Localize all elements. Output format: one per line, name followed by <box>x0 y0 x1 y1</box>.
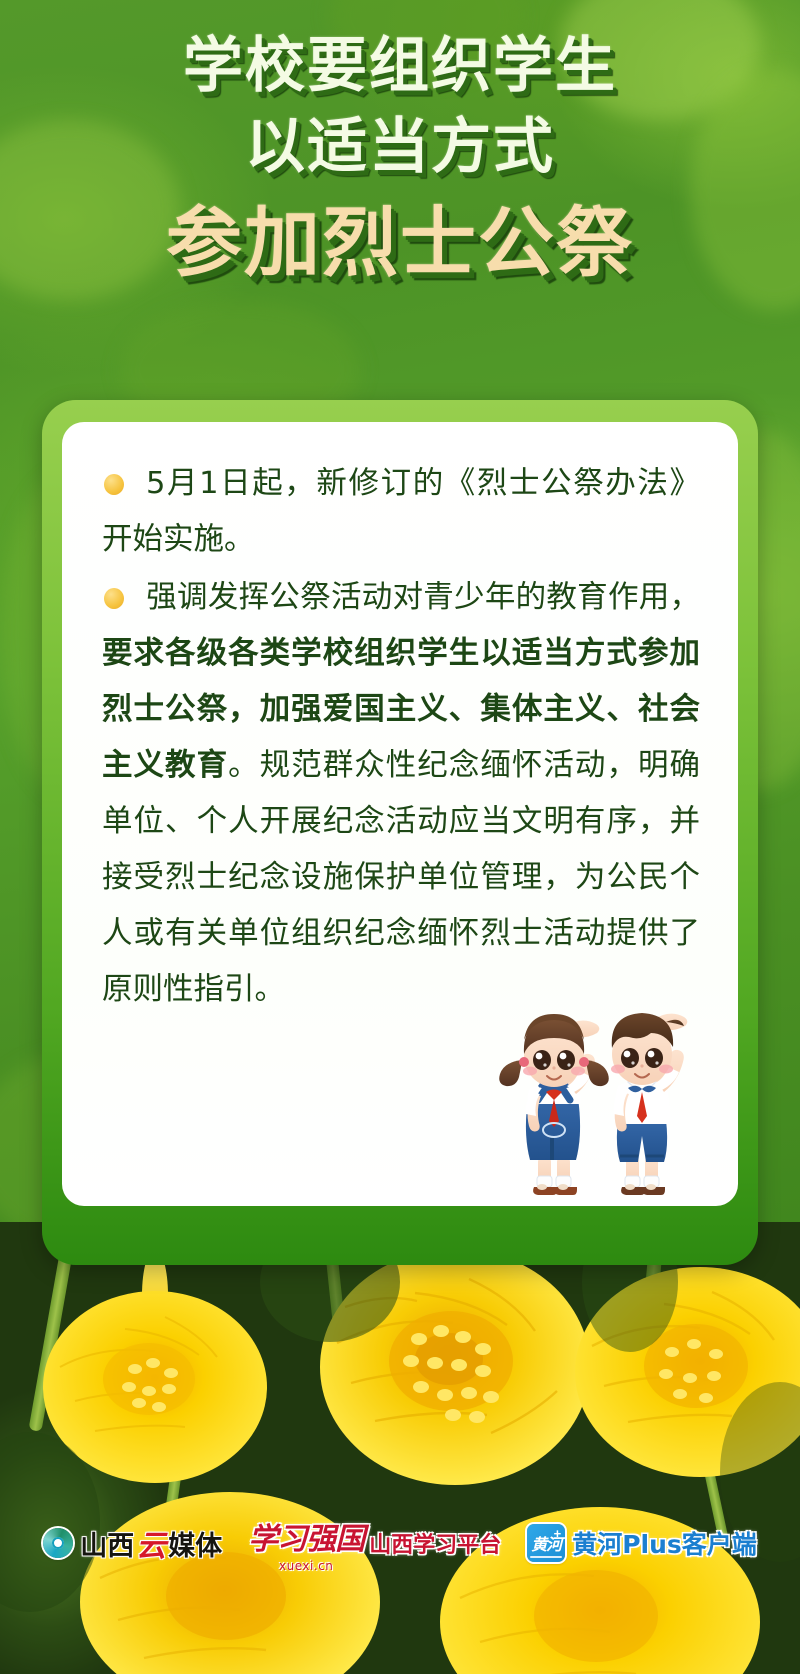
huanghe-app-icon: 黄河 + <box>527 1524 565 1562</box>
title-line-2: 以适当方式 <box>0 115 800 180</box>
paragraph-2-run-1: 强调发挥公祭活动对青少年的教育作用， <box>146 580 700 615</box>
logo-xuexi-qiangguo[interactable]: 学习强国 xuexi.cn 山西学习平台 <box>248 1514 501 1572</box>
footer-logo-bar: 山西 云 媒体 学习强国 xuexi.cn 山西学习平台 黄河 + 黄河Plus… <box>0 1508 800 1578</box>
poster-title-block: 学校要组织学生 以适当方式 参加烈士公祭 <box>0 34 800 284</box>
saluting-students-illustration <box>454 978 716 1206</box>
girl-student <box>499 1014 609 1195</box>
paragraph-2: 强调发挥公祭活动对青少年的教育作用，要求各级各类学校组织学生以适当方式参加烈士公… <box>102 570 700 1018</box>
logo-shanxi-part-1: 山西 <box>80 1524 134 1563</box>
logo-xuexi-domain: xuexi.cn <box>279 1560 333 1572</box>
flower-art <box>0 1222 800 1674</box>
logo-huanghe-plus[interactable]: 黄河 + 黄河Plus客户端 <box>527 1524 757 1562</box>
boy-student <box>611 1013 687 1195</box>
logo-shanxi-part-3: 媒体 <box>168 1524 222 1563</box>
content-card-inner: 5月1日起，新修订的《烈士公祭办法》开始实施。 强调发挥公祭活动对青少年的教育作… <box>62 422 738 1206</box>
logo-huanghe-name: 黄河Plus客户端 <box>572 1525 757 1561</box>
paragraph-1-run-1: 5月1日起，新修订的《烈士公祭办法》开始实施。 <box>102 466 700 557</box>
paragraph-2-run-3: 。规范群众性纪念缅怀活动，明确单位、个人开展纪念活动应当文明有序，并接受烈士纪念… <box>102 748 700 1007</box>
spiral-icon <box>43 1528 73 1558</box>
title-line-1: 学校要组织学生 <box>0 34 800 99</box>
bullet-dot-icon <box>104 588 124 609</box>
content-card: 5月1日起，新修订的《烈士公祭办法》开始实施。 强调发挥公祭活动对青少年的教育作… <box>42 400 758 1265</box>
poster-root: 学校要组织学生 以适当方式 参加烈士公祭 5月1日起，新修订的《烈士公祭办法》开… <box>0 0 800 1674</box>
huanghe-icon-plus: + <box>554 1526 562 1541</box>
logo-xuexi-brand: 学习强国 <box>248 1514 364 1558</box>
title-line-3: 参加烈士公祭 <box>0 202 800 284</box>
chrysanthemum-background <box>0 1222 800 1674</box>
logo-shanxi-yun-meiti[interactable]: 山西 云 媒体 <box>43 1521 222 1565</box>
logo-xuexi-platform: 山西学习平台 <box>369 1527 501 1559</box>
bullet-dot-icon <box>104 474 124 495</box>
logo-shanxi-part-2: 云 <box>134 1521 168 1565</box>
card-body-text: 5月1日起，新修订的《烈士公祭办法》开始实施。 强调发挥公祭活动对青少年的教育作… <box>102 456 700 1020</box>
paragraph-1: 5月1日起，新修订的《烈士公祭办法》开始实施。 <box>102 456 700 568</box>
